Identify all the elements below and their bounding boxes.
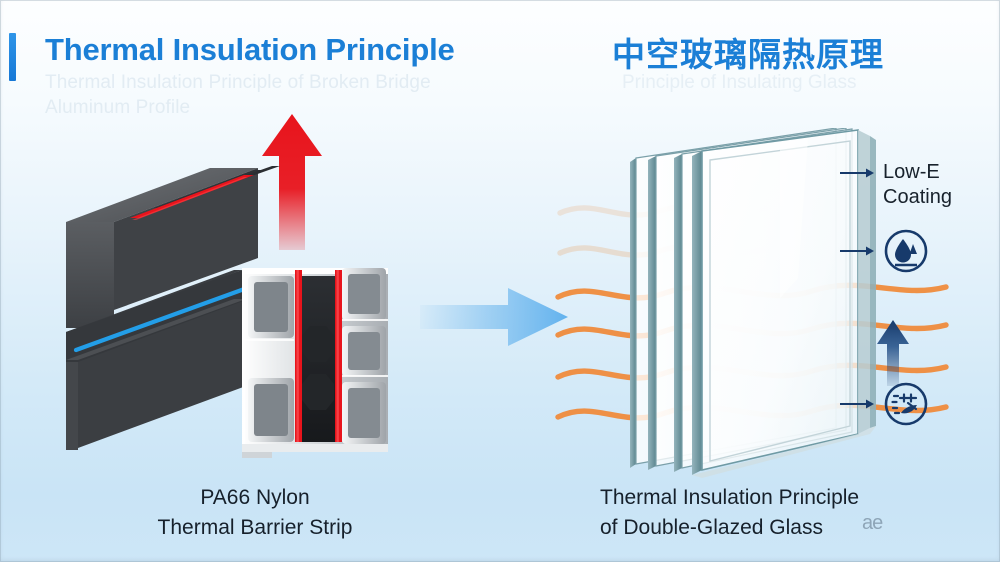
slide-canvas: Thermal Insulation Principle Thermal Ins… bbox=[0, 0, 1000, 562]
page-subtitle-english-right: Principle of Insulating Glass bbox=[622, 70, 856, 95]
left-caption-line1: PA66 Nylon bbox=[100, 483, 410, 513]
callout-low-e-label: Low-E Coating bbox=[883, 160, 952, 210]
callout-moisture bbox=[840, 228, 929, 274]
arrow-right-icon bbox=[840, 245, 874, 257]
water-drop-icon bbox=[883, 228, 929, 274]
page-title-chinese: 中空玻璃隔热原理 bbox=[612, 28, 884, 76]
gauge-icon bbox=[883, 381, 929, 427]
blue-upward-arrow-icon bbox=[873, 318, 913, 388]
transition-arrow-icon bbox=[420, 278, 570, 356]
arrow-right-icon bbox=[840, 167, 874, 179]
aluminum-profile-illustration bbox=[58, 150, 418, 460]
blue-accent-bar bbox=[9, 33, 16, 81]
page-title-english: Thermal Insulation Principle bbox=[45, 32, 455, 68]
caption-watermark: ae bbox=[862, 512, 882, 535]
left-caption: PA66 Nylon Thermal Barrier Strip bbox=[100, 483, 410, 543]
callout-low-e-coating: Low-E Coating bbox=[840, 160, 952, 210]
left-caption-line2: Thermal Barrier Strip bbox=[100, 513, 410, 543]
callout-performance bbox=[840, 381, 929, 427]
right-caption-line1: Thermal Insulation Principle bbox=[600, 483, 930, 513]
arrow-right-icon bbox=[840, 398, 874, 410]
